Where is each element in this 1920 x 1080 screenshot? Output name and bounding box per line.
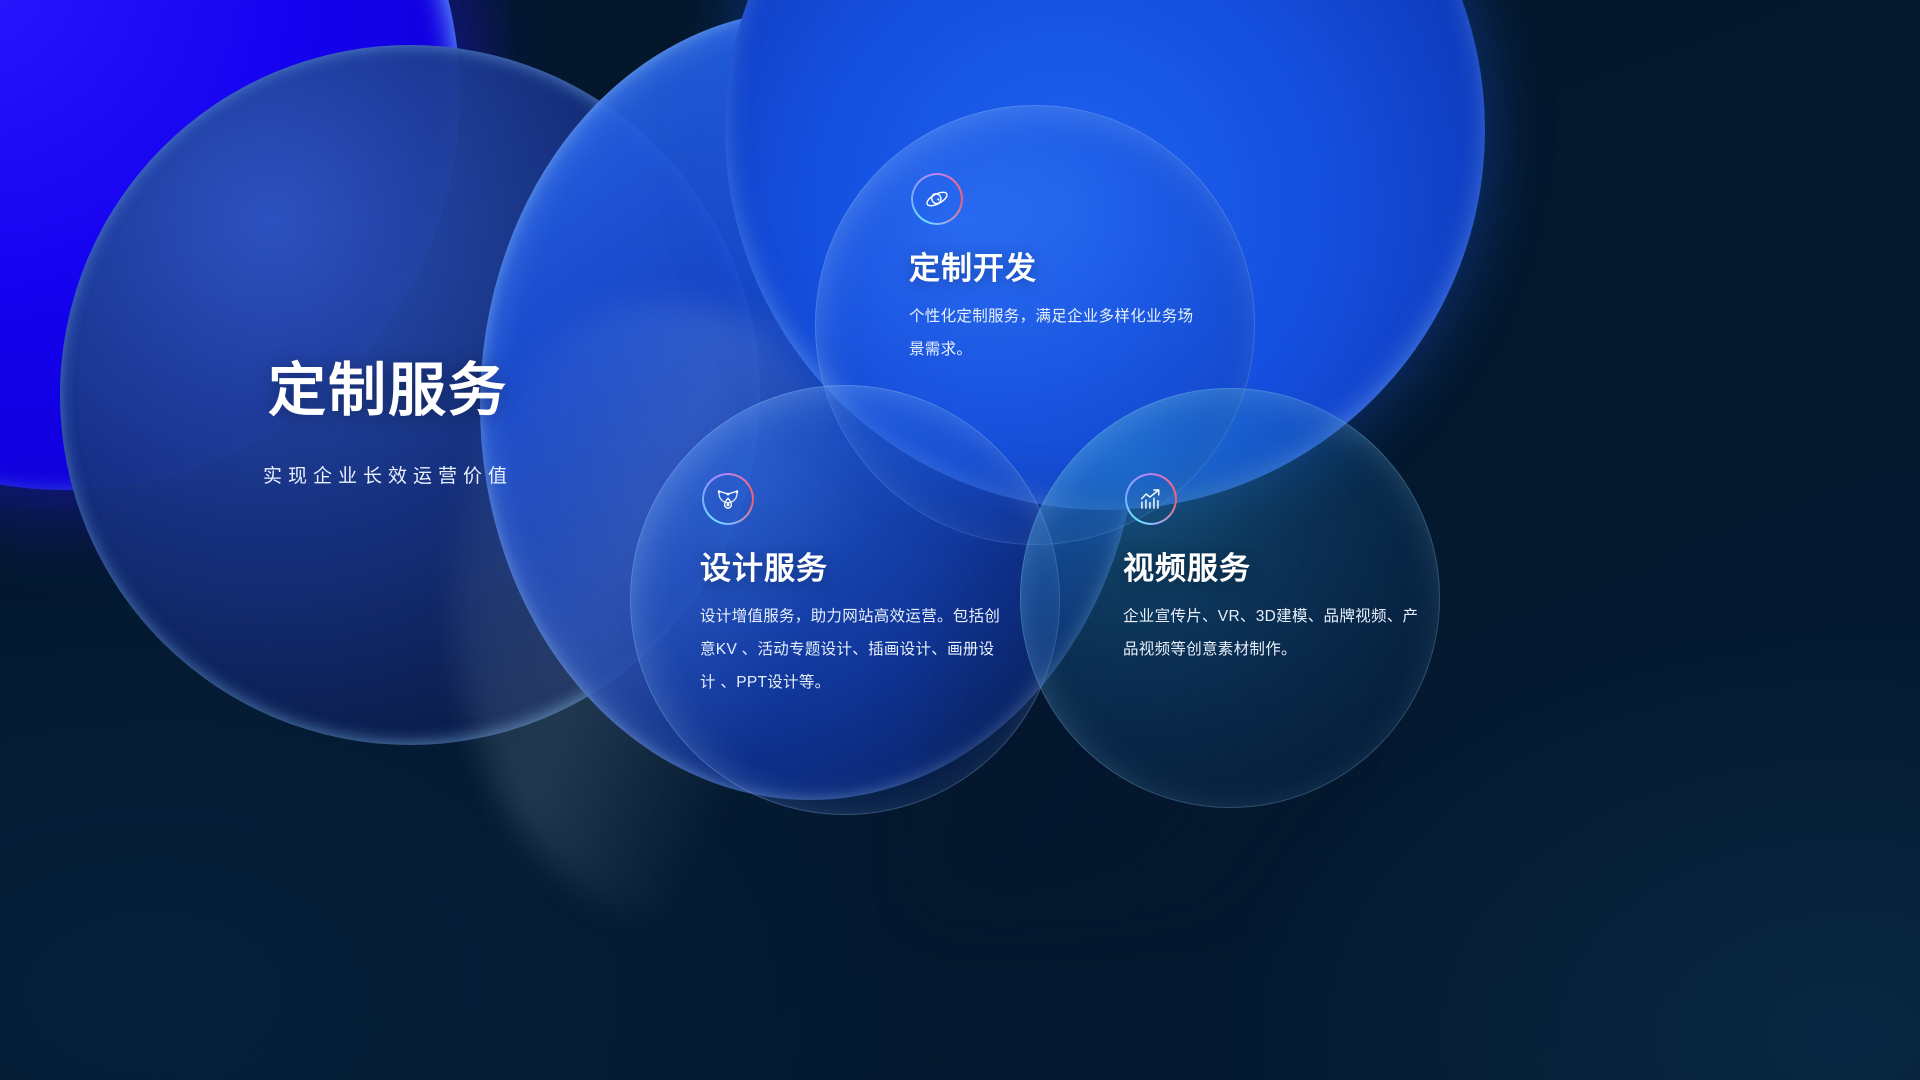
growth-chart-icon xyxy=(1125,473,1177,525)
service-card-content: 视频服务 企业宣传片、VR、3D建模、品牌视频、产品视频等创意素材制作。 xyxy=(1020,388,1440,808)
atom-icon xyxy=(911,173,963,225)
service-title: 定制开发 xyxy=(909,243,1037,288)
page-title: 定制服务 xyxy=(178,360,598,423)
service-card-content: 设计服务 设计增值服务，助力网站高效运营。包括创意KV 、活动专题设计、插画设计… xyxy=(630,385,1060,815)
page-subtitle: 实现企业长效运营价值 xyxy=(178,461,598,488)
service-title: 视频服务 xyxy=(1123,543,1251,588)
service-card-video-service[interactable]: 视频服务 企业宣传片、VR、3D建模、品牌视频、产品视频等创意素材制作。 xyxy=(1020,388,1440,808)
hero-banner: 定制服务 实现企业长效运营价值 定制开发 个性化定制服务，满足企业多样化业务场景… xyxy=(0,0,1920,1080)
pen-nib-ink-drop-icon xyxy=(702,473,754,525)
service-description: 设计增值服务，助力网站高效运营。包括创意KV 、活动专题设计、插画设计、画册设计… xyxy=(700,601,1002,700)
service-title: 设计服务 xyxy=(700,543,828,588)
service-description: 企业宣传片、VR、3D建模、品牌视频、产品视频等创意素材制作。 xyxy=(1123,601,1423,667)
hero-copy: 定制服务 实现企业长效运营价值 xyxy=(178,360,598,488)
service-card-design-service[interactable]: 设计服务 设计增值服务，助力网站高效运营。包括创意KV 、活动专题设计、插画设计… xyxy=(630,385,1060,815)
service-description: 个性化定制服务，满足企业多样化业务场景需求。 xyxy=(909,301,1209,367)
